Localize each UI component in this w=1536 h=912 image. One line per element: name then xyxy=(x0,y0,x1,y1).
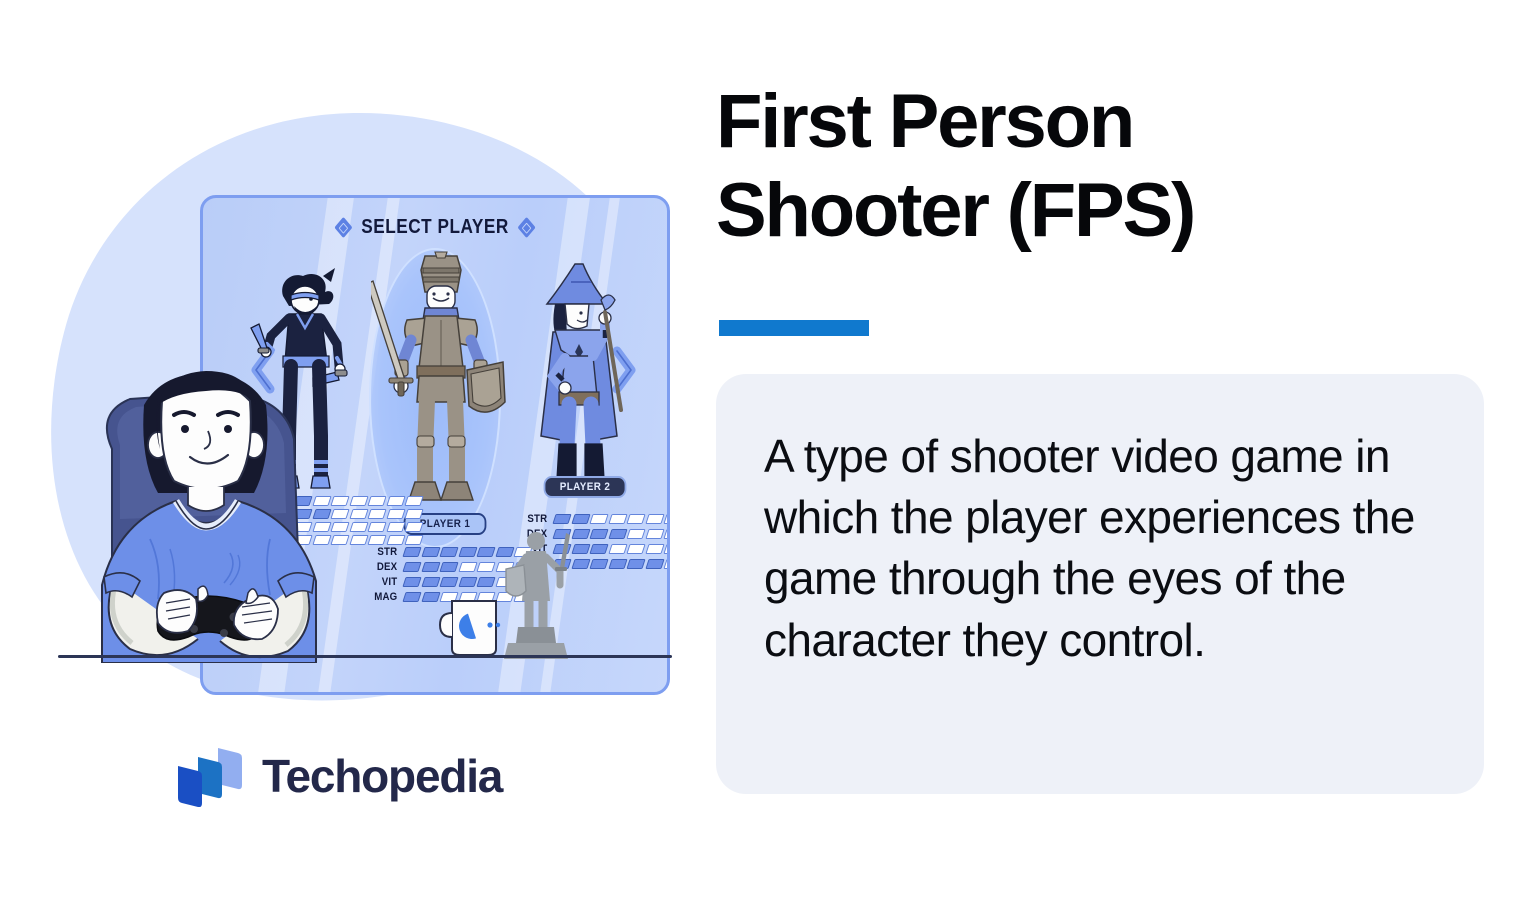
diamond-icon xyxy=(517,217,535,238)
techopedia-logo[interactable]: Techopedia xyxy=(172,745,502,807)
stat-pip-empty xyxy=(663,514,670,524)
stat-pip-filled xyxy=(608,559,627,569)
diamond-icon xyxy=(334,217,352,238)
stat-pip-filled xyxy=(589,544,608,554)
stat-pip-filled xyxy=(458,547,477,557)
stat-pip-empty xyxy=(386,535,405,545)
stat-pip-empty xyxy=(404,496,423,506)
stat-pip-empty xyxy=(458,562,477,572)
nameplate-player-2: PLAYER 2 xyxy=(544,476,627,498)
stat-pip-filled xyxy=(421,562,440,572)
illustration-stage: SELECT PLAYER xyxy=(40,95,680,715)
stat-pip-empty xyxy=(663,559,670,569)
techopedia-wordmark: Techopedia xyxy=(262,749,502,803)
infographic-page: SELECT PLAYER xyxy=(0,0,1536,912)
stat-pip-filled xyxy=(439,547,458,557)
stat-pip-empty xyxy=(404,522,423,532)
stat-pip-empty xyxy=(663,529,670,539)
stat-pip-filled xyxy=(476,577,495,587)
knight-figurine xyxy=(502,525,574,660)
stat-pips xyxy=(554,514,670,524)
stat-pip-filled xyxy=(421,547,440,557)
desk-line xyxy=(58,655,672,658)
accent-rule xyxy=(719,320,869,336)
techopedia-logo-mark xyxy=(172,745,246,807)
select-player-label: SELECT PLAYER xyxy=(361,216,509,239)
coffee-mug xyxy=(438,587,508,659)
stat-pip-filled xyxy=(402,547,421,557)
stat-pip-empty xyxy=(645,529,664,539)
definition-text: A type of shooter video game in which th… xyxy=(764,426,1438,671)
stat-pip-empty xyxy=(663,544,670,554)
stat-pip-empty xyxy=(645,514,664,524)
stat-pip-filled xyxy=(589,529,608,539)
character-wizard[interactable] xyxy=(521,260,637,510)
definition-card: A type of shooter video game in which th… xyxy=(716,374,1484,794)
stat-pip-filled xyxy=(552,514,571,524)
stat-pip-filled xyxy=(645,559,664,569)
stat-pip-filled xyxy=(626,559,645,569)
stat-pip-filled xyxy=(476,547,495,557)
stat-pip-empty xyxy=(626,544,645,554)
illustration-pane: SELECT PLAYER xyxy=(0,0,700,912)
stat-pip-filled xyxy=(571,514,590,524)
gamer-character xyxy=(58,353,378,663)
stat-pip-empty xyxy=(404,509,423,519)
stat-pip-empty xyxy=(645,544,664,554)
stat-row: STR xyxy=(521,513,670,525)
stat-pip-filled xyxy=(608,529,627,539)
text-pane: First Person Shooter (FPS) A type of sho… xyxy=(716,0,1536,912)
stat-pip-filled xyxy=(439,562,458,572)
stat-label: STR xyxy=(523,513,548,525)
page-title: First Person Shooter (FPS) xyxy=(716,78,1416,256)
stat-pip-empty xyxy=(386,496,405,506)
stat-pip-empty xyxy=(476,562,495,572)
stat-pip-empty xyxy=(626,514,645,524)
stat-pip-empty xyxy=(608,544,627,554)
stat-pip-empty xyxy=(589,514,608,524)
select-player-header: SELECT PLAYER xyxy=(235,216,634,239)
character-knight[interactable] xyxy=(371,250,511,520)
stat-pip-filled xyxy=(439,577,458,587)
stat-pip-filled xyxy=(402,562,421,572)
stat-pip-filled xyxy=(421,577,440,587)
stat-pip-empty xyxy=(386,522,405,532)
stat-pip-empty xyxy=(626,529,645,539)
stat-pip-filled xyxy=(402,577,421,587)
stat-pip-filled xyxy=(402,592,421,602)
stat-pip-empty xyxy=(404,535,423,545)
stat-pip-empty xyxy=(386,509,405,519)
stat-pip-filled xyxy=(458,577,477,587)
stat-pip-empty xyxy=(608,514,627,524)
stat-pip-filled xyxy=(589,559,608,569)
